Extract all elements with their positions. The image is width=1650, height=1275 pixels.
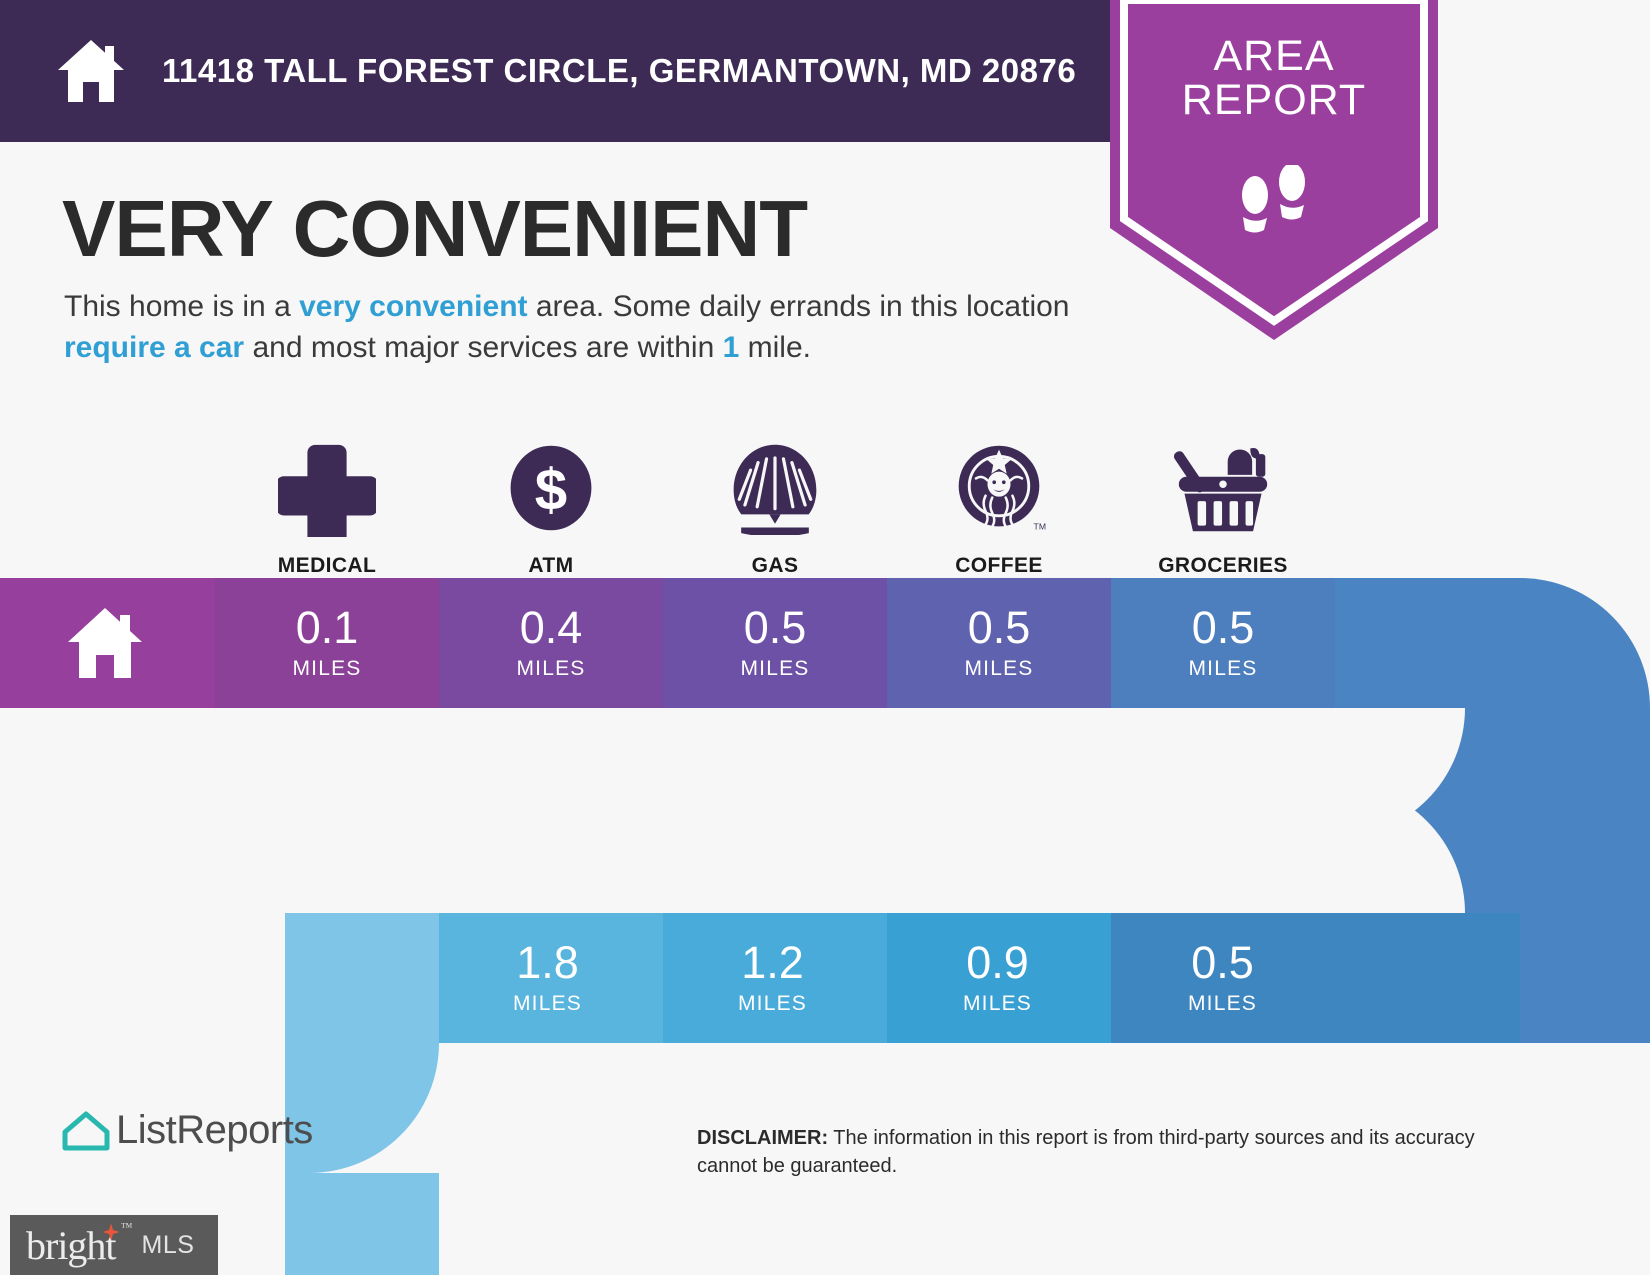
distance-unit: MILES [963,992,1032,1016]
amenity-gas: GAS [663,418,887,578]
distance-cell-atm: 0.4 MILES [439,578,663,708]
amenity-label: GROCERIES [1158,554,1288,578]
home-icon [52,32,130,110]
trademark-symbol: ™ [121,1220,132,1235]
distance-value: 0.5 [1191,940,1254,985]
distance-cell-gym: 1.2 MILES [660,913,885,1043]
distance-value: 0.5 [1192,605,1255,650]
distance-cell-gas: 0.5 MILES [663,578,887,708]
amenity-label: COFFEE [955,554,1043,578]
distance-unit: MILES [1188,657,1257,681]
listreports-logo: ListReports [62,1108,313,1153]
desc-highlight-3: 1 [723,331,740,364]
footprints-icon [1235,165,1313,237]
amenity-label: GAS [752,554,799,578]
disclaimer: DISCLAIMER: The information in this repo… [697,1124,1507,1181]
amenity-medical: MEDICAL [215,418,439,578]
property-address: 11418 TALL FOREST CIRCLE, GERMANTOWN, MD… [162,52,1076,90]
distance-unit: MILES [513,992,582,1016]
distance-cell-movie-theater: 1.8 MILES [435,913,660,1043]
ribbon-mid-panel [408,708,1343,913]
amenity-label: ATM [528,554,573,578]
desc-highlight-1: very convenient [299,290,527,323]
medical-cross-icon [278,436,376,540]
ribbon-elbow-left [285,1043,439,1275]
distance-unit: MILES [740,657,809,681]
bright-mls-watermark: bright™ MLS [10,1215,218,1275]
distance-value: 0.5 [968,605,1031,650]
distance-unit: MILES [1188,992,1257,1016]
distance-unit: MILES [738,992,807,1016]
distance-value: 0.9 [966,940,1029,985]
desc-part-3: and most major services are within [244,331,723,364]
distance-cell-medical: 0.1 MILES [215,578,439,708]
distance-value: 0.1 [296,605,359,650]
bright-text: bright [26,1223,116,1268]
starbucks-logo-icon: TM [951,436,1047,540]
distance-unit: MILES [292,657,361,681]
distance-cell-pharmacy: 0.5 MILES [1110,913,1335,1043]
header-bar: 11418 TALL FOREST CIRCLE, GERMANTOWN, MD… [0,0,1120,142]
shell-logo-icon [728,436,822,540]
desc-part-1: This home is in a [64,290,299,323]
home-marker-icon [62,600,148,686]
amenity-coffee: TM COFFEE [887,418,1111,578]
distance-cell-cleaners: 0.9 MILES [885,913,1110,1043]
desc-part-4: mile. [739,331,811,364]
distance-cell-groceries: 0.5 MILES [1111,578,1335,708]
disclaimer-label: DISCLAIMER: [697,1127,828,1149]
page-description: This home is in a very convenient area. … [64,286,1104,368]
amenity-atm: $ ATM [439,418,663,578]
page-title: VERY CONVENIENT [62,183,807,275]
bright-wordmark: bright™ [26,1222,116,1269]
mls-text: MLS [142,1231,195,1260]
area-report-badge: AREA REPORT [1110,0,1438,340]
distance-cell-coffee: 0.5 MILES [887,578,1111,708]
distance-unit: MILES [516,657,585,681]
amenity-label: MEDICAL [278,554,376,578]
amenity-icon-row-1: MEDICAL $ ATM G [215,418,1335,578]
grocery-basket-icon [1171,436,1275,540]
distance-value: 0.4 [520,605,583,650]
svg-text:$: $ [535,458,567,523]
distance-unit: MILES [964,657,1033,681]
distance-value: 0.5 [744,605,807,650]
desc-part-2: area. Some daily errands in this locatio… [528,290,1070,323]
distance-values-row-1: 0.1 MILES 0.4 MILES 0.5 MILES 0.5 MILES … [215,578,1335,708]
dollar-circle-icon: $ [504,436,598,540]
listreports-house-icon [62,1109,110,1153]
distance-value: 1.8 [516,940,579,985]
desc-highlight-2: require a car [64,331,244,364]
svg-text:TM: TM [1034,521,1046,531]
distance-values-row-2: 1.8 MILES 1.2 MILES 0.9 MILES 0.5 MILES [435,913,1335,1043]
listreports-wordmark: ListReports [116,1108,313,1153]
distance-value: 1.2 [741,940,804,985]
amenity-groceries: GROCERIES [1111,418,1335,578]
